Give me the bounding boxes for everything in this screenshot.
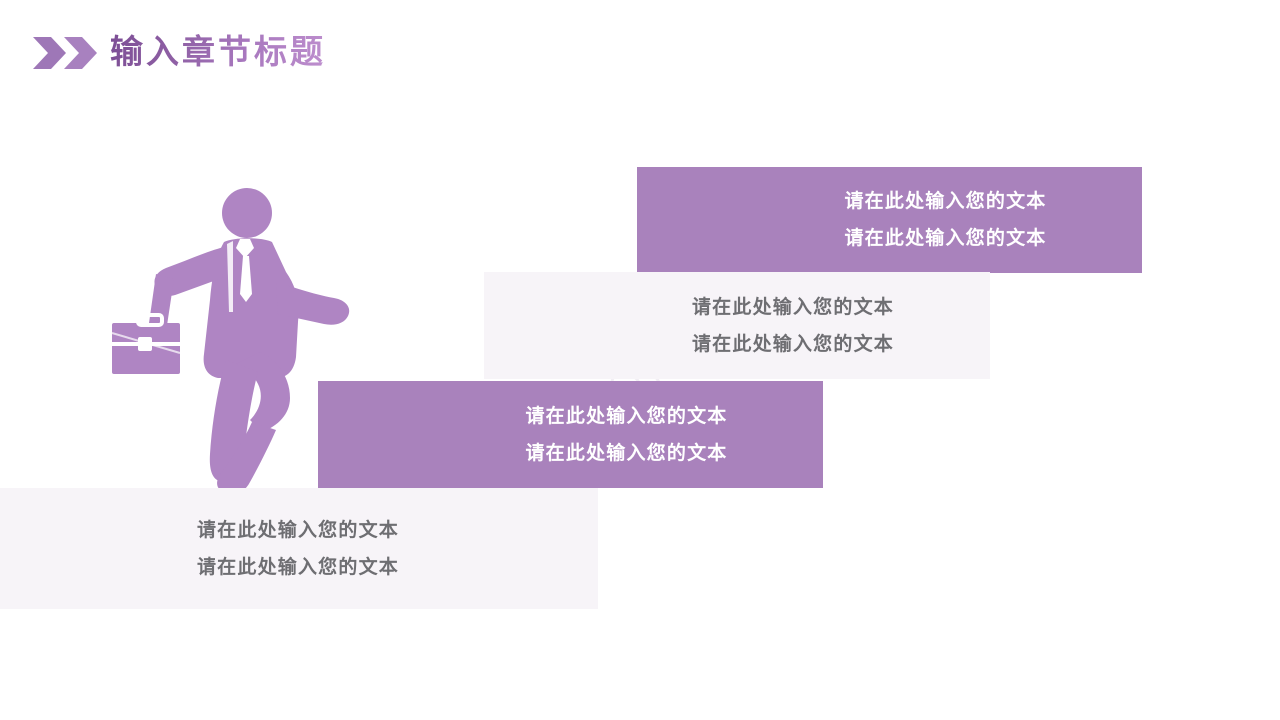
slide-header: 输入章节标题	[0, 0, 1280, 110]
content-bar-2[interactable]: 请在此处输入您的文本 请在此处输入您的文本	[484, 272, 990, 379]
content-bar-2-line-2: 请在此处输入您的文本	[692, 326, 894, 363]
content-bar-3-line-2: 请在此处输入您的文本	[525, 435, 727, 472]
slide-canvas: 输入章节标题	[0, 0, 1280, 720]
content-bar-4-line-2: 请在此处输入您的文本	[197, 549, 399, 586]
content-bar-2-line-1: 请在此处输入您的文本	[692, 289, 894, 326]
page-title: 输入章节标题	[110, 30, 326, 74]
content-bar-3[interactable]: 请在此处输入您的文本 请在此处输入您的文本	[318, 381, 823, 488]
content-bar-1-text: 请在此处输入您的文本 请在此处输入您的文本	[844, 183, 1046, 257]
content-bar-2-text: 请在此处输入您的文本 请在此处输入您的文本	[692, 289, 894, 363]
content-bar-4[interactable]: 请在此处输入您的文本 请在此处输入您的文本	[0, 488, 598, 609]
content-bar-4-line-1: 请在此处输入您的文本	[197, 512, 399, 549]
content-bar-3-line-1: 请在此处输入您的文本	[525, 398, 727, 435]
content-bar-4-text: 请在此处输入您的文本 请在此处输入您的文本	[197, 512, 399, 586]
content-bar-1-line-2: 请在此处输入您的文本	[844, 220, 1046, 257]
content-bar-1[interactable]: 请在此处输入您的文本 请在此处输入您的文本	[637, 167, 1142, 273]
double-chevron-right-icon	[33, 36, 99, 70]
content-bar-3-text: 请在此处输入您的文本 请在此处输入您的文本	[525, 398, 727, 472]
content-bar-1-line-1: 请在此处输入您的文本	[844, 183, 1046, 220]
